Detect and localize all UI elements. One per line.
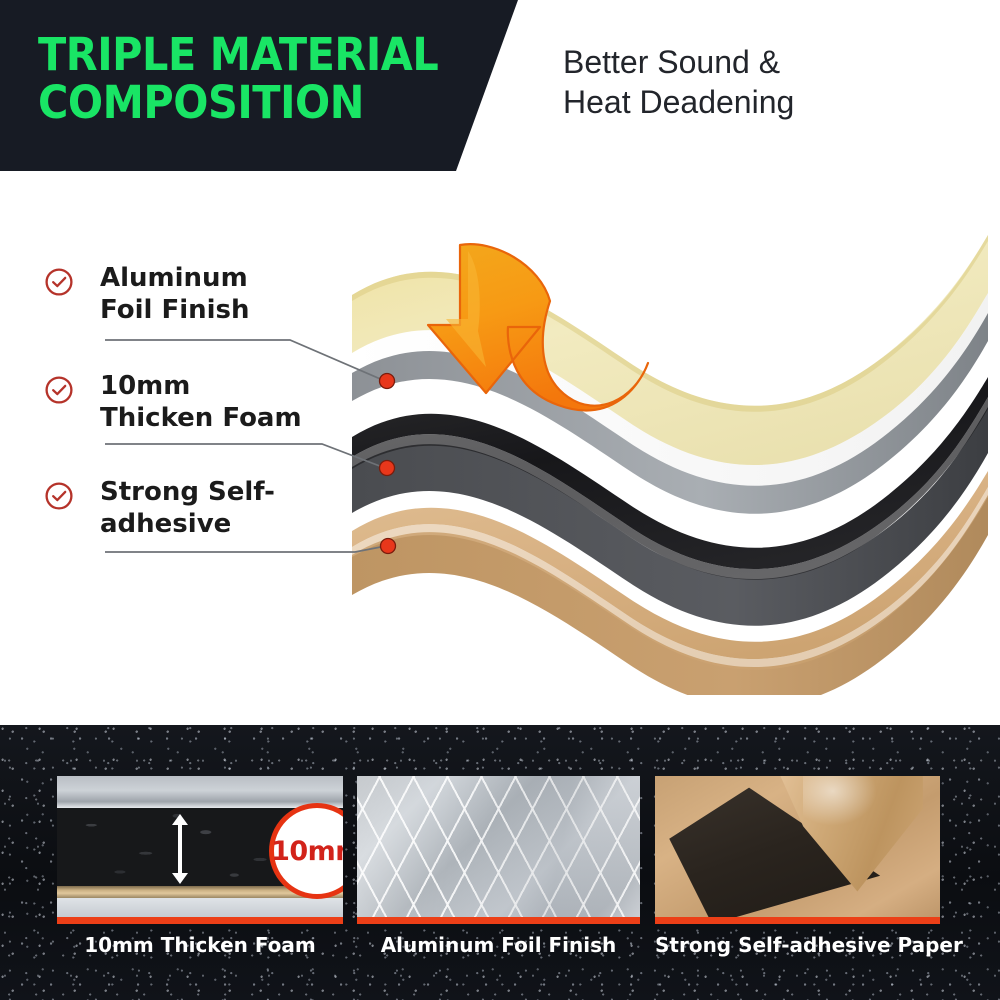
foil-sheen (357, 776, 640, 924)
foil-photo-inner (357, 776, 640, 924)
thickness-arrow-icon (169, 812, 191, 886)
foam-cross-section-photo: 10mm (57, 776, 343, 924)
foil-band (57, 776, 343, 808)
panel-underline (357, 917, 640, 924)
page-title: TRIPLE MATERIAL COMPOSITION (38, 31, 470, 127)
exploded-layer-diagram (330, 195, 1000, 695)
panel-caption-foam: 10mm Thicken Foam (57, 933, 343, 957)
page-subtitle: Better Sound & Heat Deadening (563, 42, 983, 122)
header-banner: TRIPLE MATERIAL COMPOSITION Better Sound… (0, 0, 1000, 171)
panel-caption-paper: Strong Self-adhesive Paper (655, 933, 940, 957)
panel-underline (655, 917, 940, 924)
release-paper-band (57, 898, 343, 917)
paper-photo-inner (655, 776, 940, 924)
infographic-page: TRIPLE MATERIAL COMPOSITION Better Sound… (0, 0, 1000, 1000)
material-photo-strip: 10mm 10mm Thicken Foam Aluminum Foil Fin… (0, 725, 1000, 1000)
check-circle-icon (44, 375, 74, 405)
aluminum-foil-photo (357, 776, 640, 924)
panel-underline (57, 917, 343, 924)
self-adhesive-paper-photo (655, 776, 940, 924)
check-circle-icon (44, 481, 74, 511)
foam-photo-inner: 10mm (57, 776, 343, 924)
check-circle-icon (44, 267, 74, 297)
panel-caption-foil: Aluminum Foil Finish (357, 933, 640, 957)
paper-highlight (803, 776, 877, 826)
thickness-badge-label: 10mm (271, 836, 343, 867)
